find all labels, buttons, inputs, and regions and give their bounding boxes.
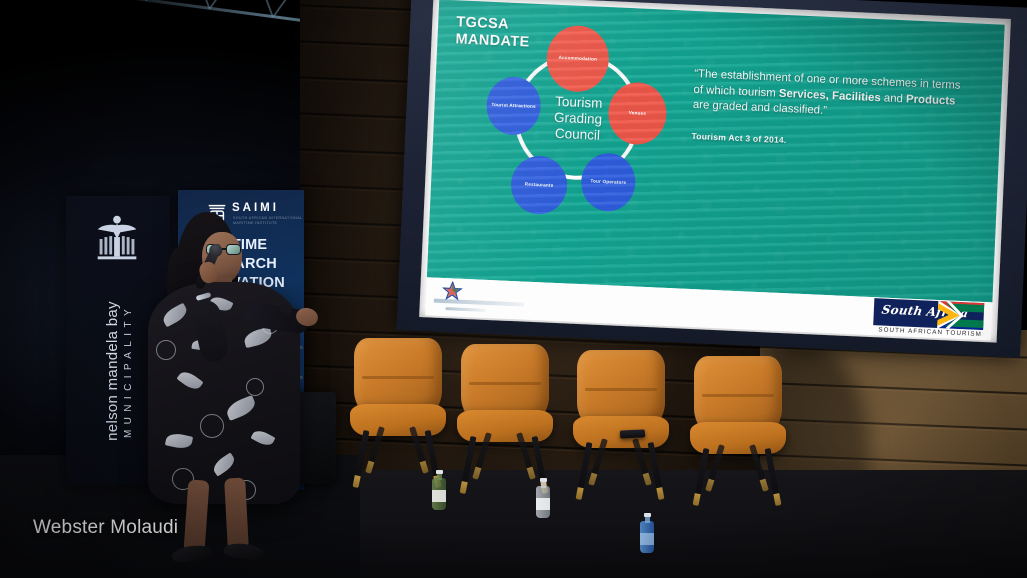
municipality-banner-text: nelson mandela bay MUNICIPALITY [104, 246, 134, 484]
bottle-clear [536, 478, 550, 518]
photo-caption: Webster Molaudi [33, 517, 178, 539]
tgcsa-donut-diagram: Accommodation Venues Tour Operators Rest… [488, 28, 665, 205]
chair-2 [457, 344, 553, 494]
photo-canvas: TGCSA MANDATE Accommodation Venues Tour … [0, 0, 1027, 578]
quote-bold-1: Services, Facilities [779, 87, 881, 104]
donut-center-label: Tourism Grading Council [531, 82, 626, 156]
footer-logotype-line1 [434, 299, 524, 307]
quote-bold-2: Products [906, 93, 956, 107]
phone-on-chair [620, 429, 645, 438]
quote-mid: and [880, 92, 906, 105]
quote-part-2: are graded and classified.” [693, 99, 828, 117]
center-line-3: Council [555, 126, 601, 144]
presenter-shoe-left [171, 543, 213, 563]
screen-surface: TGCSA MANDATE Accommodation Venues Tour … [419, 0, 1011, 343]
footer-logotype-line2 [445, 307, 485, 312]
chair-1 [350, 338, 446, 488]
chair-3 [573, 350, 669, 500]
chair-4 [690, 356, 786, 506]
bottle-blue [640, 513, 654, 553]
presentation-slide: TGCSA MANDATE Accommodation Venues Tour … [427, 0, 1005, 302]
sa-tourism-star-icon [442, 281, 463, 301]
presenter [140, 208, 316, 570]
south-africa-flag-icon [937, 301, 984, 330]
bottle-green [432, 470, 446, 510]
presenter-leg-left [184, 479, 210, 552]
municipality-name: nelson mandela bay [104, 246, 121, 484]
municipality-word: MUNICIPALITY [123, 246, 134, 484]
presenter-leg-right [224, 477, 249, 550]
projection-screen: TGCSA MANDATE Accommodation Venues Tour … [397, 0, 1027, 358]
slide-quote-block: “The establishment of one or more scheme… [691, 67, 964, 153]
presenter-shoe-right [223, 542, 265, 562]
south-africa-logo: South Africa [873, 298, 984, 330]
